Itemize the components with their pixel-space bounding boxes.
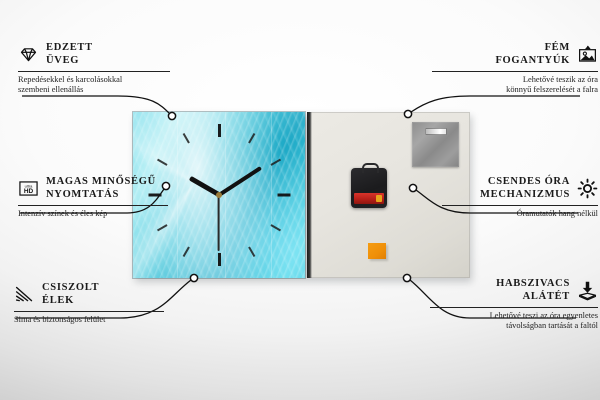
callout-metal-handles: FÉMFOGANTYÚK Lehetővé teszik az óra könn… [432,42,598,95]
callout-divider [18,71,170,72]
callout-high-quality-print: ultra HD MAGAS MINŐSÉGŰNYOMTATÁS Intenzí… [18,176,168,219]
callout-description: Óramutatók hang nélkül [442,209,598,219]
foam-pad-arrow-icon [577,280,598,301]
callout-header: CSENDES ÓRAMECHANIZMUS [442,176,598,201]
wire-glass [22,96,170,114]
callout-tempered-glass: EDZETTÜVEG Repedésekkel és karcolásokkal… [18,42,170,95]
svg-text:HD: HD [24,188,34,195]
diamond-icon [18,44,39,65]
callout-title: HABSZIVACSALÁTÉT [496,278,570,303]
beveled-edge-icon [14,284,35,305]
callout-header: FÉMFOGANTYÚK [432,42,598,67]
wire-endpoint-glass [168,112,175,119]
callout-header: ultra HD MAGAS MINŐSÉGŰNYOMTATÁS [18,176,168,201]
callout-header: EDZETTÜVEG [18,42,170,67]
callout-title: EDZETTÜVEG [46,42,93,67]
wire-handles [411,96,580,112]
callout-header: HABSZIVACSALÁTÉT [430,278,598,303]
infographic-canvas: EDZETTÜVEG Repedésekkel és karcolásokkal… [0,0,600,400]
ultra-hd-icon: ultra HD [18,178,39,199]
callout-title: CSISZOLTÉLEK [42,282,99,307]
callout-divider [432,71,598,72]
wire-endpoint-foam [403,274,410,281]
wire-endpoint-handles [404,110,411,117]
callout-polished-edges: CSISZOLTÉLEK Sima és biztonságos felület [14,282,164,325]
callout-description: Sima és biztonságos felület [14,315,164,325]
callout-description: Lehetővé teszik az óra könnyű felszerelé… [432,75,598,95]
callout-description: Intenzív színek és éles kép [18,209,168,219]
callout-divider [18,205,168,206]
callout-silent-mechanism: CSENDES ÓRAMECHANIZMUS Óramutatók hang n… [442,176,598,219]
gear-icon [577,178,598,199]
wire-endpoint-quiet [409,184,416,191]
callout-title: MAGAS MINŐSÉGŰNYOMTATÁS [46,176,156,201]
wire-endpoint-edges [190,274,197,281]
callout-divider [442,205,598,206]
picture-hanger-icon [577,44,598,65]
callout-description: Lehetővé teszi az óra egyenletes távolsá… [430,311,598,331]
callout-title: FÉMFOGANTYÚK [495,42,570,67]
callout-description: Repedésekkel és karcolásokkal szembeni e… [18,75,170,95]
callout-divider [14,311,164,312]
callout-divider [430,307,598,308]
callout-foam-pad: HABSZIVACSALÁTÉT Lehetővé teszi az óra e… [430,278,598,331]
callout-header: CSISZOLTÉLEK [14,282,164,307]
callout-title: CSENDES ÓRAMECHANIZMUS [480,176,570,201]
